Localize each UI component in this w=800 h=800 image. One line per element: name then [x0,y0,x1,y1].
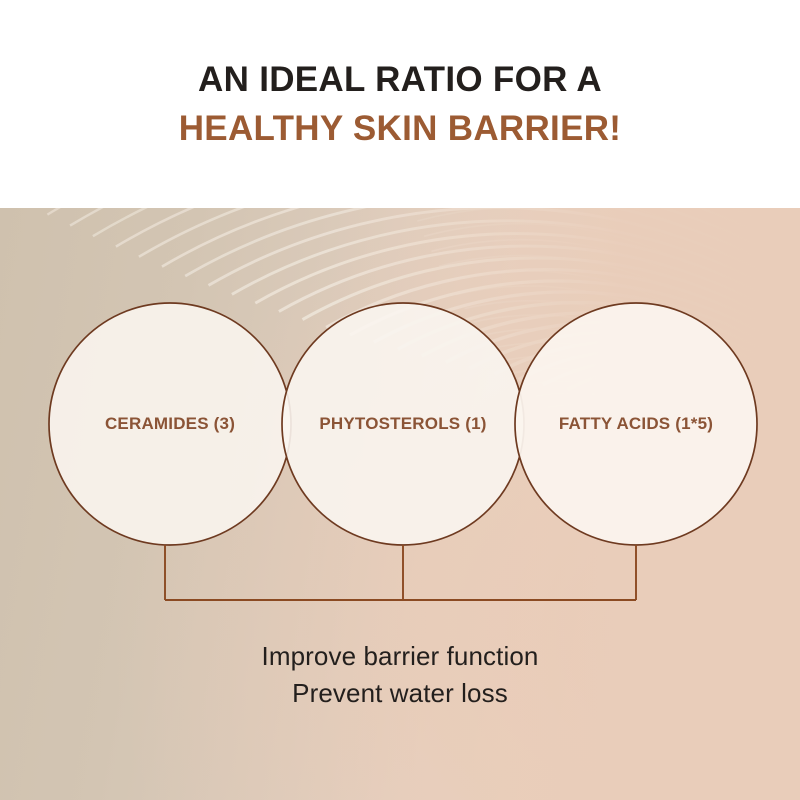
venn-label-fattyacids: FATTY ACIDS (1*5) [559,414,713,434]
benefit-line-1: Improve barrier function [0,638,800,675]
page-title-line-1: AN IDEAL RATIO FOR A [198,60,602,99]
bracket-connector [165,545,636,600]
infographic-canvas: AN IDEAL RATIO FOR A HEALTHY SKIN BARRIE… [0,0,800,800]
venn-label-phytosterols: PHYTOSTEROLS (1) [319,414,486,434]
benefits-text-block: Improve barrier function Prevent water l… [0,638,800,712]
header-band: AN IDEAL RATIO FOR A HEALTHY SKIN BARRIE… [0,0,800,208]
page-title-line-2: HEALTHY SKIN BARRIER! [179,109,622,148]
venn-label-ceramides: CERAMIDES (3) [105,414,235,434]
benefit-line-2: Prevent water loss [0,675,800,712]
